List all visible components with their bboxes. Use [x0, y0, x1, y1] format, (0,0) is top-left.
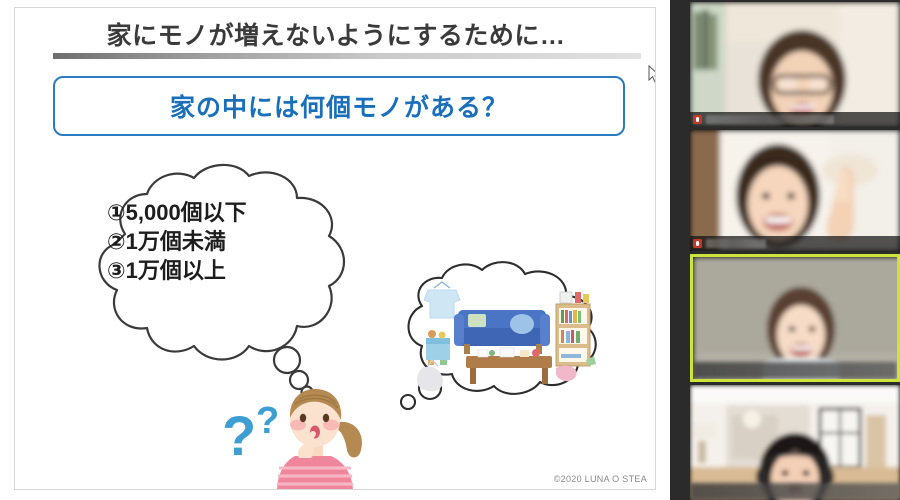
mic-muted-icon	[693, 239, 702, 248]
answer-option: ②1万個未満	[107, 229, 337, 255]
participant-name-2	[706, 239, 766, 248]
question-text: 家の中には何個モノがある？	[170, 88, 508, 124]
participant-tile-1[interactable]	[690, 2, 900, 127]
participant-name-4	[690, 483, 900, 500]
participant-tile-3-active-speaker[interactable]	[690, 254, 900, 382]
participant-tile-2[interactable]	[690, 130, 900, 251]
participant-video-2	[690, 130, 900, 251]
question-box: 家の中には何個モノがある？	[53, 76, 625, 136]
answer-options-list: ①5,000個以下 ②1万個未満 ③1万個以上	[107, 200, 337, 284]
participant-name-3	[693, 362, 897, 379]
thought-bubble-room	[370, 256, 620, 416]
participant-video-1	[690, 2, 900, 127]
answer-option: ③1万個以上	[107, 258, 337, 284]
shared-slide-area[interactable]: 家にモノが増えないようにするために… 家の中には何個モノがある？ ①5,000個…	[0, 0, 670, 500]
presentation-slide: 家にモノが増えないようにするために… 家の中には何個モノがある？ ①5,000個…	[14, 7, 656, 490]
mic-muted-icon	[693, 115, 702, 124]
meeting-screen-share-view: 家にモノが増えないようにするために… 家の中には何個モノがある？ ①5,000個…	[0, 0, 900, 500]
participant-name-bar-2	[690, 236, 900, 251]
answer-option: ①5,000個以下	[107, 200, 337, 226]
slide-title: 家にモノが増えないようにするために…	[15, 16, 656, 52]
title-divider	[53, 53, 641, 59]
svg-text:?: ?	[222, 404, 256, 467]
participant-name-1	[706, 115, 834, 124]
cluttered-living-room-icon	[370, 256, 620, 416]
thought-bubble-answers: ①5,000個以下 ②1万個未満 ③1万個以上	[61, 156, 371, 406]
participant-video-3	[693, 257, 897, 379]
participant-name-bar-1	[690, 112, 900, 127]
participant-tile-4[interactable]	[690, 385, 900, 500]
thinking-woman-icon	[265, 380, 375, 490]
participant-video-panel	[670, 0, 900, 500]
mouse-pointer-icon	[648, 65, 656, 85]
copyright-notice: ©2020 LUNA O STEA	[554, 474, 647, 484]
